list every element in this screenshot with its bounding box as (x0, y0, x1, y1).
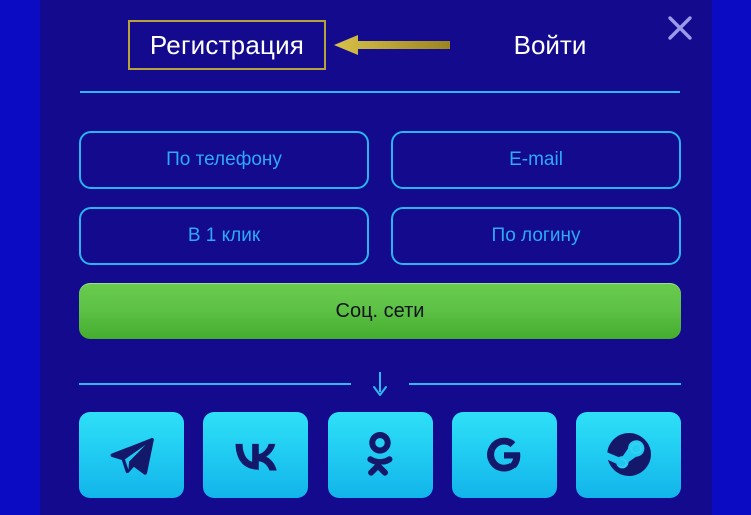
social-networks-label: Соц. сети (336, 300, 425, 323)
option-one-click-label: В 1 клик (188, 225, 260, 247)
option-by-phone[interactable]: По телефону (79, 131, 369, 189)
odnoklassniki-icon (362, 432, 398, 478)
option-by-email[interactable]: E-mail (391, 131, 681, 189)
social-separator (79, 370, 681, 398)
telegram-icon (109, 435, 155, 475)
tab-register-label: Регистрация (150, 32, 304, 58)
option-by-login-label: По логину (492, 225, 581, 247)
modal-header: Регистрация Войти (40, 0, 712, 92)
left-arrow-annotation-icon (332, 32, 452, 58)
steam-icon (606, 432, 652, 478)
page-root: Регистрация Войти (0, 0, 751, 515)
social-tile-telegram[interactable] (79, 412, 184, 498)
social-networks-button[interactable]: Соц. сети (79, 283, 681, 339)
vk-icon (232, 439, 280, 471)
option-by-login[interactable]: По логину (391, 207, 681, 265)
auth-modal: Регистрация Войти (40, 0, 712, 515)
separator-line-left (79, 383, 351, 385)
social-tile-google[interactable] (452, 412, 557, 498)
registration-method-options: По телефону E-mail В 1 клик По логину (79, 131, 681, 265)
social-login-tiles (79, 412, 681, 498)
social-tile-odnoklassniki[interactable] (328, 412, 433, 498)
separator-line-right (409, 383, 681, 385)
arrow-down-icon (365, 370, 395, 398)
google-icon (482, 433, 526, 477)
tab-register[interactable]: Регистрация (128, 20, 326, 70)
header-divider (80, 91, 680, 93)
option-by-email-label: E-mail (509, 149, 563, 171)
option-one-click[interactable]: В 1 клик (79, 207, 369, 265)
close-button[interactable] (658, 8, 702, 52)
option-by-phone-label: По телефону (166, 149, 282, 171)
social-tile-vk[interactable] (203, 412, 308, 498)
tab-login-label: Войти (514, 32, 587, 58)
close-icon (665, 13, 695, 48)
tab-login[interactable]: Войти (450, 20, 650, 70)
social-tile-steam[interactable] (576, 412, 681, 498)
